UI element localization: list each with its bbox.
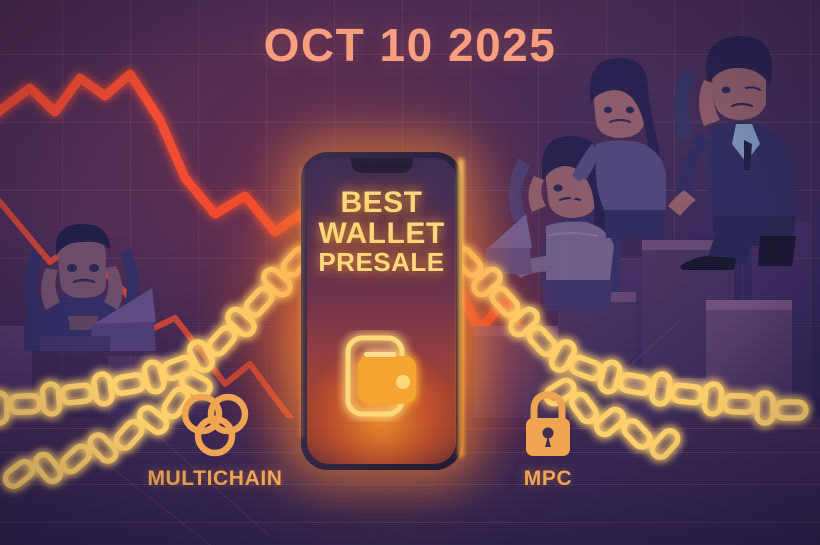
- feature-multichain[interactable]: MULTICHAIN: [132, 388, 298, 491]
- headline-line-1: BEST: [307, 188, 456, 219]
- headline-line-2: WALLET: [307, 219, 456, 250]
- person-left-at-laptop: [6, 206, 156, 351]
- phone-edge-highlight: [458, 158, 464, 458]
- phone-device[interactable]: BEST WALLET PRESALE: [301, 152, 462, 470]
- step-block-top: [612, 378, 706, 388]
- lock-icon: [517, 388, 579, 460]
- phone-body: BEST WALLET PRESALE: [301, 152, 462, 470]
- step-block: [706, 300, 792, 430]
- wallet-icon: [334, 330, 430, 422]
- feature-mpc[interactable]: MPC: [488, 388, 608, 491]
- feature-mpc-label: MPC: [488, 467, 608, 491]
- step-block-top: [706, 300, 792, 310]
- promo-banner-scene: BEST WALLET PRESALE: [0, 0, 820, 545]
- phone-screen[interactable]: BEST WALLET PRESALE: [307, 158, 456, 464]
- presale-headline: BEST WALLET PRESALE: [307, 188, 456, 276]
- page-title: OCT 10 2025: [0, 18, 820, 72]
- headline-line-3: PRESALE: [307, 249, 456, 276]
- phone-notch: [351, 158, 413, 173]
- phone-edge-highlight-left: [300, 168, 303, 438]
- multichain-icon: [173, 388, 257, 460]
- feature-multichain-label: MULTICHAIN: [132, 467, 298, 491]
